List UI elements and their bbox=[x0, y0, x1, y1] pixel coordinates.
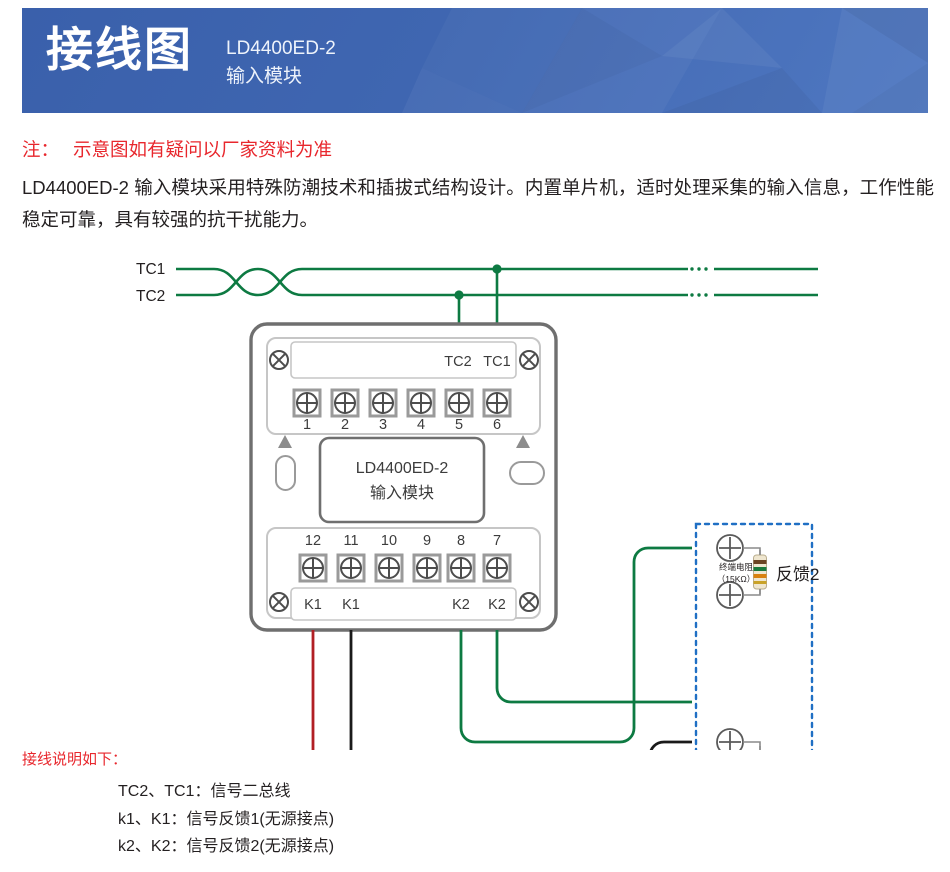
top-label-strip bbox=[291, 342, 516, 378]
feedback-device-1: 终端电阻 （15KΩ） 反馈1 bbox=[717, 729, 820, 750]
disclaimer-note: 注：示意图如有疑问以厂家资料为准 bbox=[22, 136, 332, 162]
feedback2-resistor-value: （15KΩ） bbox=[717, 574, 755, 584]
module-bottom-label-k1-b: K1 bbox=[342, 597, 360, 613]
input-module: TC2 TC1 1 2 3 4 5 6 LD4400ED-2 输入模块 bbox=[251, 324, 556, 630]
feedback2-resistor-label: 终端电阻 bbox=[719, 562, 754, 572]
terminal-number-1: 1 bbox=[303, 417, 311, 433]
product-description: LD4400ED-2 输入模块采用特殊防潮技术和插拔式结构设计。内置单片机，适时… bbox=[22, 172, 934, 236]
junction-dot-tc1 bbox=[492, 264, 501, 273]
feedback2-name: 反馈2 bbox=[776, 565, 819, 584]
header-subtitle: LD4400ED-2 输入模块 bbox=[226, 35, 336, 90]
legend-list: TC2、TC1：信号二总线 k1、K1：信号反馈1(无源接点) k2、K2：信号… bbox=[118, 778, 334, 861]
terminal-number-3: 3 bbox=[379, 417, 387, 433]
note-lead: 注： bbox=[22, 139, 59, 160]
module-name: LD4400ED-2 bbox=[356, 460, 449, 477]
right-indicator-icon bbox=[510, 462, 544, 484]
module-subname: 输入模块 bbox=[370, 484, 434, 502]
page-header: 接线图 LD4400ED-2 输入模块 bbox=[22, 8, 928, 113]
module-top-label-tc2: TC2 bbox=[444, 354, 471, 370]
bus-label-tc1: TC1 bbox=[136, 261, 165, 278]
terminal-number-9: 9 bbox=[423, 533, 431, 549]
module-nameplate bbox=[320, 438, 484, 522]
feedback2-resistor-icon bbox=[754, 550, 767, 594]
bus-wire-tc1 bbox=[176, 269, 688, 295]
feedback-device-2: 终端电阻 （15KΩ） 反馈2 bbox=[717, 535, 820, 608]
feedback2-terminal-bottom-icon bbox=[717, 582, 743, 608]
module-bottom-label-k1-a: K1 bbox=[304, 597, 322, 613]
page-title: 接线图 bbox=[46, 26, 193, 73]
feedback1-resistor-icon bbox=[754, 746, 767, 750]
wiring-diagram: TC1 TC2 TC2 TC1 bbox=[0, 250, 950, 750]
bus-wire-tc2 bbox=[176, 269, 688, 295]
terminal-number-6: 6 bbox=[493, 417, 501, 433]
screw-bottom-left-icon bbox=[270, 593, 288, 611]
terminal-number-12: 12 bbox=[305, 533, 321, 549]
terminal-number-7: 7 bbox=[493, 533, 501, 549]
wire-k1-to-feedback1-bottom bbox=[313, 630, 716, 750]
bus-label-tc2: TC2 bbox=[136, 288, 165, 305]
module-bottom-label-k2-b: K2 bbox=[488, 597, 506, 613]
legend-title: 接线说明如下： bbox=[22, 748, 127, 769]
legend-item-tc: TC2、TC1：信号二总线 bbox=[118, 778, 334, 806]
header-module-name: 输入模块 bbox=[226, 63, 336, 91]
legend-item-k2: k2、K2：信号反馈2(无源接点) bbox=[118, 833, 334, 861]
header-model: LD4400ED-2 bbox=[226, 35, 336, 63]
screw-top-right-icon bbox=[520, 351, 538, 369]
screw-bottom-right-icon bbox=[520, 593, 538, 611]
feedback1-terminal-top-icon bbox=[717, 729, 743, 750]
terminal-number-5: 5 bbox=[455, 417, 463, 433]
screw-top-left-icon bbox=[270, 351, 288, 369]
terminal-number-10: 10 bbox=[381, 533, 397, 549]
module-bottom-label-k2-a: K2 bbox=[452, 597, 470, 613]
left-indicator-icon bbox=[276, 456, 295, 490]
junction-dot-tc2 bbox=[454, 290, 463, 299]
bottom-label-strip bbox=[291, 588, 516, 620]
terminal-number-4: 4 bbox=[417, 417, 425, 433]
terminal-number-8: 8 bbox=[457, 533, 465, 549]
feedback2-terminal-top-icon bbox=[717, 535, 743, 561]
wire-k1-to-feedback1-top bbox=[351, 630, 692, 750]
module-top-label-tc1: TC1 bbox=[483, 354, 510, 370]
legend-item-k1: k1、K1：信号反馈1(无源接点) bbox=[118, 806, 334, 834]
terminal-number-11: 11 bbox=[343, 533, 358, 549]
note-text: 示意图如有疑问以厂家资料为准 bbox=[73, 139, 332, 160]
wire-k2-to-feedback2-top bbox=[497, 630, 692, 702]
terminal-number-2: 2 bbox=[341, 417, 349, 433]
